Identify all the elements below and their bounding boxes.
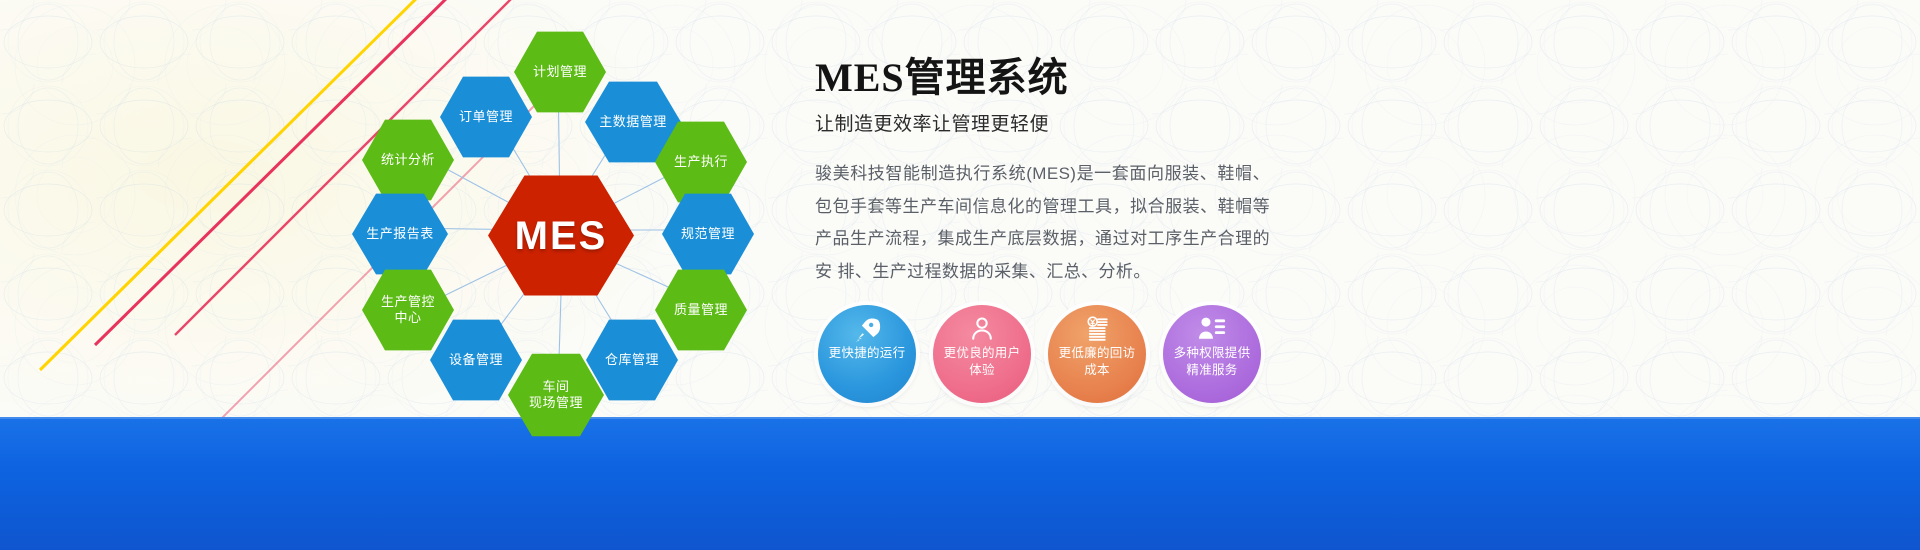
banner-description: 骏美科技智能制造执行系统(MES)是一套面向服装、鞋帽、包包手套等生产车间信息化… (815, 158, 1270, 289)
hex-label: 计划管理 (533, 64, 587, 80)
banner-text-column: MES管理系统 让制造更效率让管理更轻便 骏美科技智能制造执行系统(MES)是一… (815, 55, 1335, 289)
feature-badge-row: 更快捷的运行 更优良的用户 体验 (818, 305, 1261, 403)
blue-base-band (0, 417, 1920, 550)
badge-label: 更低廉的回访 成本 (1054, 345, 1140, 379)
banner-subtitle: 让制造更效率让管理更轻便 (815, 109, 1335, 136)
hex-label: 质量管理 (674, 302, 728, 318)
hex-label: 生产管控 中心 (381, 294, 435, 327)
badge-faster-operation[interactable]: 更快捷的运行 (818, 305, 916, 403)
hex-label: 车间 现场管理 (529, 379, 583, 412)
badge-label: 更快捷的运行 (824, 345, 910, 362)
hex-label: 订单管理 (459, 109, 513, 125)
badge-label: 多种权限提供 精准服务 (1169, 345, 1255, 379)
banner-title: MES管理系统 (815, 55, 1335, 101)
badge-better-user-experience[interactable]: 更优良的用户 体验 (933, 305, 1031, 403)
badge-lower-revisit-cost[interactable]: 更低廉的回访 成本 (1048, 305, 1146, 403)
hex-label: 仓库管理 (605, 352, 659, 368)
rocket-icon (854, 316, 881, 342)
mes-hexagon-diagram: MES 计划管理 订单管理 主数据管理 统计分析 生产执行 生产报告表 规范管理… (330, 10, 800, 440)
mes-banner: MES 计划管理 订单管理 主数据管理 统计分析 生产执行 生产报告表 规范管理… (0, 0, 1920, 550)
hex-label: 统计分析 (381, 152, 435, 168)
coins-icon (1084, 316, 1110, 342)
hex-center-label: MES (515, 211, 608, 261)
hex-label: 设备管理 (449, 352, 503, 368)
hex-label: 规范管理 (681, 226, 735, 242)
hex-label: 主数据管理 (599, 114, 667, 130)
user-list-icon (1198, 316, 1226, 342)
hex-label: 生产执行 (674, 154, 728, 170)
badge-multi-permission-service[interactable]: 多种权限提供 精准服务 (1163, 305, 1261, 403)
user-icon (969, 316, 995, 342)
hex-label: 生产报告表 (366, 226, 434, 242)
badge-label: 更优良的用户 体验 (939, 345, 1025, 379)
